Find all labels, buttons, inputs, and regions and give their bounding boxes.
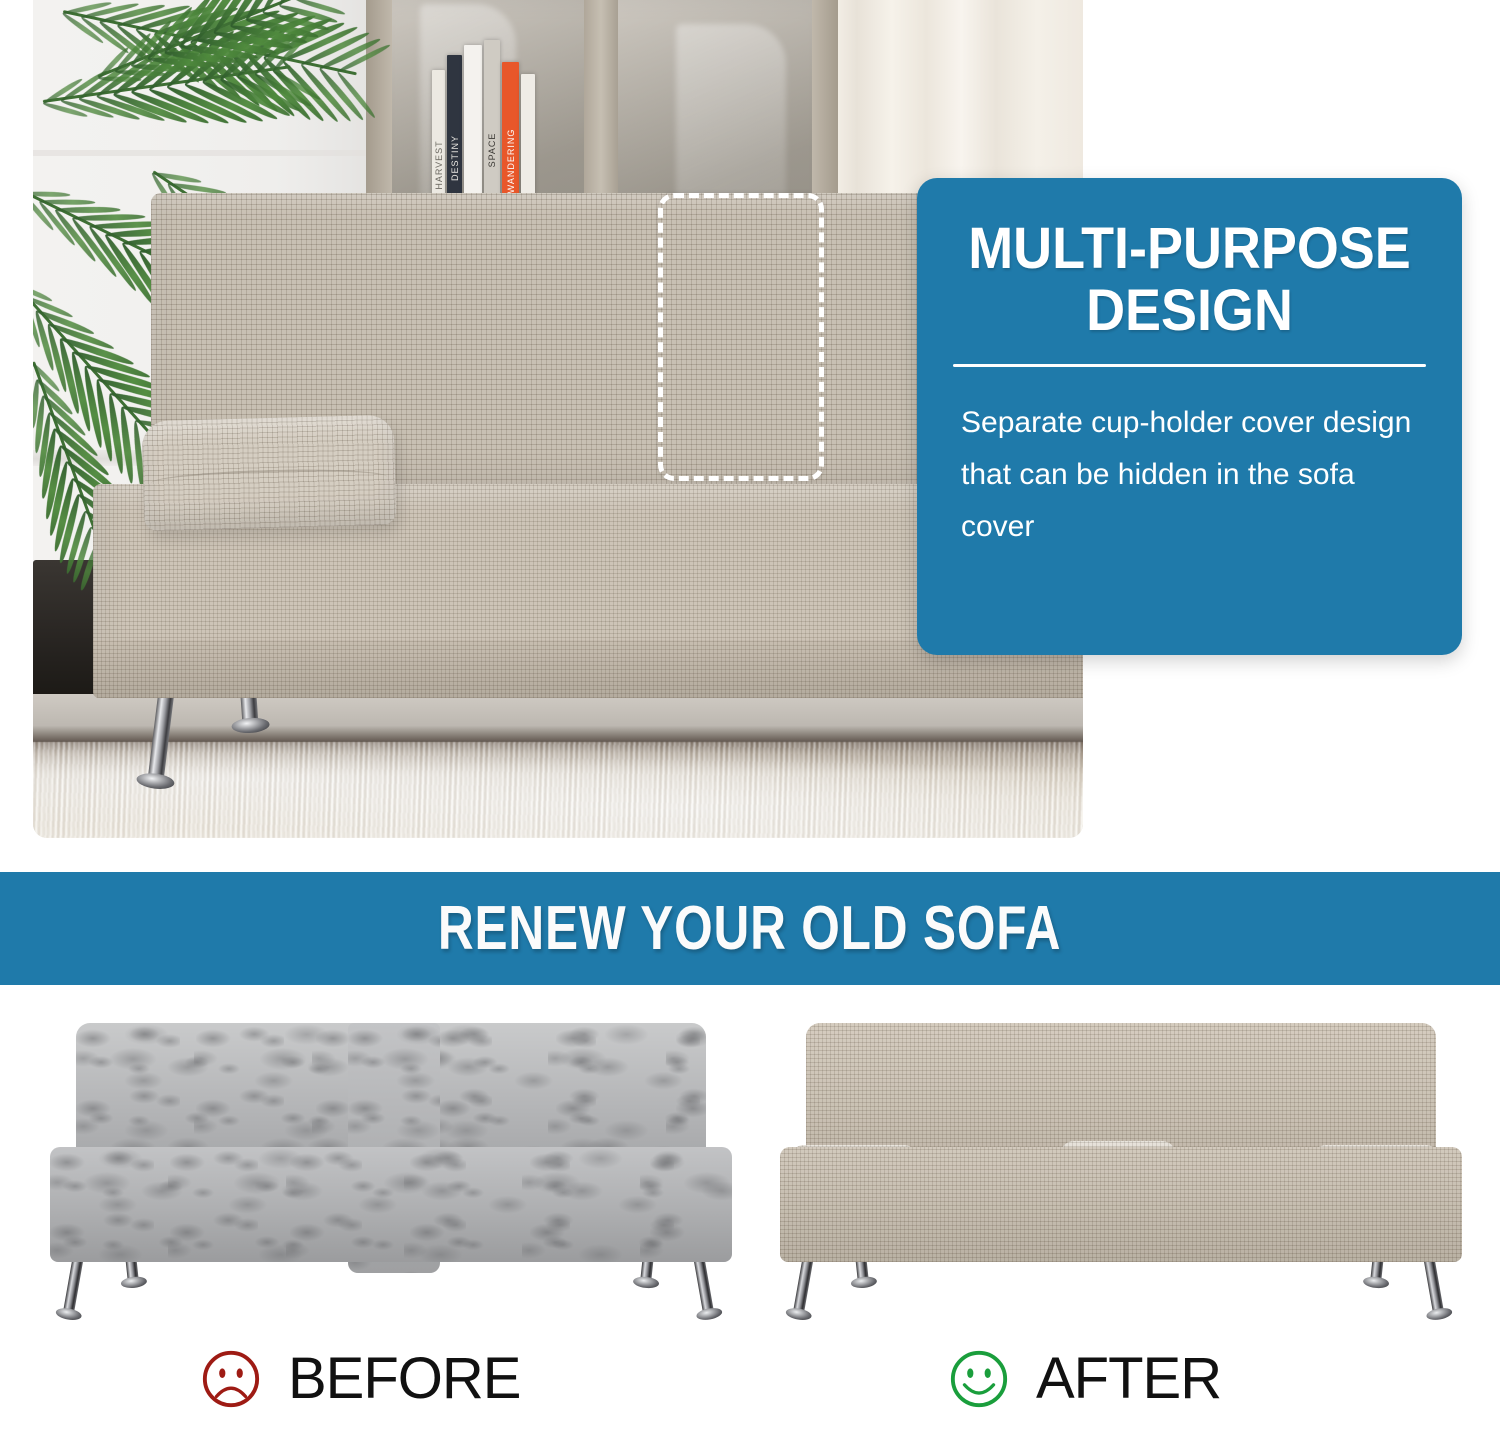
before-sofa-image: [30, 995, 750, 1335]
worn-fabric-texture: [50, 1147, 732, 1262]
before-label: BEFORE: [288, 1350, 521, 1408]
rug-texture: [33, 742, 1083, 838]
sofa-seat: [780, 1147, 1462, 1262]
after-label: AFTER: [1036, 1350, 1221, 1408]
book-title: HARVEST: [434, 140, 444, 189]
palm-leaflet: [56, 207, 121, 213]
book-title: WANDERING: [506, 129, 516, 194]
callout-title-line2: DESIGN: [964, 280, 1415, 342]
sofa-seat: [50, 1147, 732, 1262]
fabric-texture: [780, 1147, 1462, 1262]
armrest-cushion: [142, 415, 397, 532]
shag-rug: [33, 742, 1083, 838]
callout-divider: [953, 364, 1426, 367]
book-title: SPACE: [487, 133, 497, 168]
callout-body-text: Separate cup-holder cover design that ca…: [947, 397, 1432, 553]
before-label-row: BEFORE: [200, 1348, 521, 1410]
after-label-row: AFTER: [948, 1348, 1221, 1410]
callout-title-line1: MULTI-PURPOSE: [964, 218, 1415, 280]
renew-banner-text: RENEW YOUR OLD SOFA: [438, 893, 1061, 964]
multi-purpose-design-callout: MULTI-PURPOSE DESIGN Separate cup-holder…: [917, 178, 1462, 655]
renew-banner: RENEW YOUR OLD SOFA: [0, 872, 1500, 985]
palm-leaflet: [72, 214, 145, 222]
cup-holder-dashed-outline: [658, 193, 824, 481]
smiley-face-icon: [948, 1348, 1010, 1410]
after-sofa-image: [760, 995, 1480, 1335]
sad-face-icon: [200, 1348, 262, 1410]
book-title: DESTINY: [450, 134, 460, 180]
fabric-texture: [142, 415, 397, 532]
callout-title: MULTI-PURPOSE DESIGN: [964, 218, 1415, 342]
